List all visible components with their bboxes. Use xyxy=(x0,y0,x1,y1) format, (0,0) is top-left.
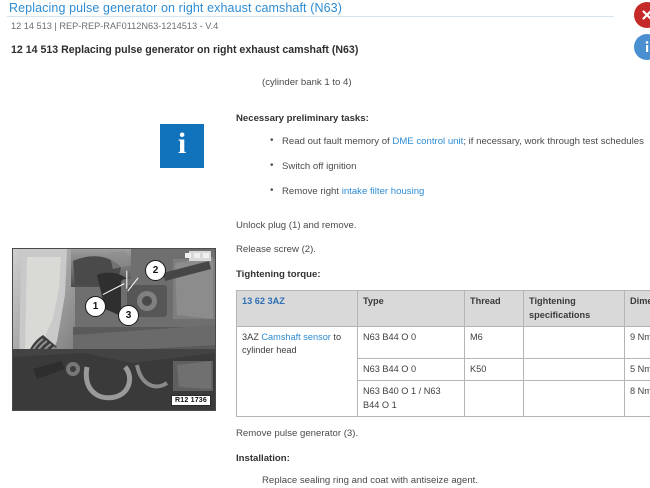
camshaft-sensor-link[interactable]: Camshaft sensor xyxy=(261,332,330,342)
list-item: Switch off ignition xyxy=(236,160,650,174)
page-title: Replacing pulse generator on right exhau… xyxy=(9,1,342,15)
table-cell-dimension: 9 Nm xyxy=(625,326,650,358)
tightening-torque-title: Tightening torque: xyxy=(236,268,650,282)
bullet-1-pre-text: Read out fault memory of xyxy=(282,136,392,147)
step-remove-pulse-generator: Remove pulse generator (3). xyxy=(236,427,650,441)
section-heading: 12 14 513 Replacing pulse generator on r… xyxy=(11,44,358,56)
callout-3-leader xyxy=(126,271,127,289)
table-header-thread: Thread xyxy=(465,291,524,327)
document-reference: 12 14 513 | REP-REP-RAF0112N63-1214513 -… xyxy=(11,21,218,31)
table-cell-specifications xyxy=(524,358,625,380)
preliminary-tasks-title: Necessary preliminary tasks: xyxy=(236,112,650,126)
close-icon xyxy=(641,9,650,21)
list-item: Read out fault memory of DME control uni… xyxy=(236,135,650,149)
information-notice-icon: i xyxy=(160,124,204,168)
table-cell-component: 3AZ Camshaft sensor to cylinder head xyxy=(237,326,358,416)
intake-filter-housing-link[interactable]: intake filter housing xyxy=(342,186,425,197)
callout-marker-2: 2 xyxy=(145,260,166,281)
title-divider xyxy=(7,16,614,17)
list-item: Remove right intake filter housing xyxy=(236,185,650,199)
installation-text: Replace sealing ring and coat with antis… xyxy=(262,474,650,488)
bullet-1-post-text: ; if necessary, work through test schedu… xyxy=(463,136,644,147)
figure-id-label: R12 1736 xyxy=(171,395,211,406)
table-row: 3AZ Camshaft sensor to cylinder head N63… xyxy=(237,326,650,358)
step-release-screw: Release screw (2). xyxy=(236,243,650,257)
info-letter-i-icon: i xyxy=(178,129,186,159)
table-cell-specifications xyxy=(524,326,625,358)
procedure-photo: R12 1736 xyxy=(12,248,216,411)
close-button[interactable] xyxy=(634,2,650,28)
table-header-row: 13 62 3AZ Type Thread Tightening specifi… xyxy=(237,291,650,327)
table-cell-type: N63 B44 O 0 xyxy=(358,358,465,380)
table-cell-specifications xyxy=(524,381,625,417)
bullet-3-pre-text: Remove right xyxy=(282,186,342,197)
callout-marker-3: 3 xyxy=(118,305,139,326)
table-cell-dimension: 8 Nm xyxy=(625,381,650,417)
preliminary-tasks-list: Read out fault memory of DME control uni… xyxy=(236,135,650,199)
cylinder-bank-note: (cylinder bank 1 to 4) xyxy=(262,76,650,90)
bullet-2-text: Switch off ignition xyxy=(282,161,356,172)
callout-marker-1: 1 xyxy=(85,296,106,317)
table-header-dimension: Dimension xyxy=(625,291,650,327)
info-button[interactable] xyxy=(634,34,650,60)
table-cell-thread: K50 xyxy=(465,358,524,380)
component-code: 3AZ xyxy=(242,332,259,342)
table-cell-thread: M6 xyxy=(465,326,524,358)
table-header-specifications: Tightening specifications xyxy=(524,291,625,327)
table-cell-type: N63 B40 O 1 / N63 B44 O 1 xyxy=(358,381,465,417)
tightening-torque-table: 13 62 3AZ Type Thread Tightening specifi… xyxy=(236,290,650,417)
table-cell-dimension: 5 Nm xyxy=(625,358,650,380)
installation-title: Installation: xyxy=(236,452,650,466)
step-unlock-plug: Unlock plug (1) and remove. xyxy=(236,219,650,233)
table-header-type: Type xyxy=(358,291,465,327)
table-cell-thread xyxy=(465,381,524,417)
dme-control-unit-link[interactable]: DME control unit xyxy=(392,136,463,147)
table-header-code: 13 62 3AZ xyxy=(237,291,358,327)
engine-bay-photo-illustration xyxy=(13,249,215,410)
info-icon xyxy=(641,40,650,54)
table-cell-type: N63 B44 O 0 xyxy=(358,326,465,358)
